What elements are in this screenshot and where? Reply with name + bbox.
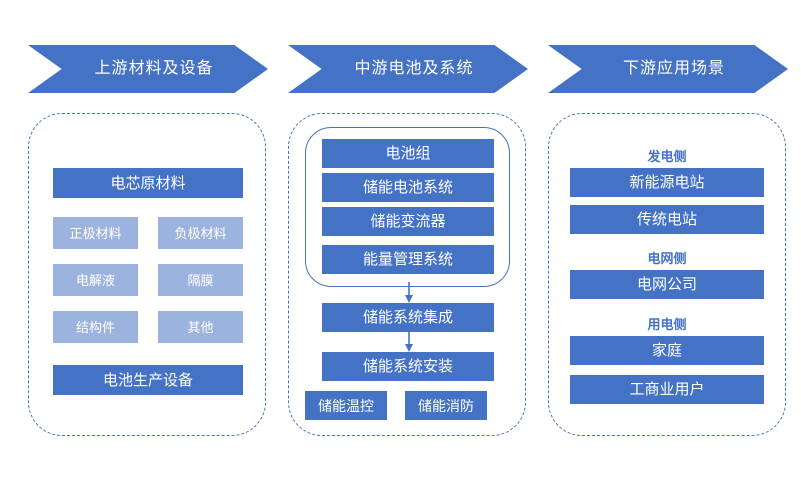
down-arrow-icon-1 bbox=[404, 282, 414, 304]
box-storage-battery-system[interactable]: 储能电池系统 bbox=[322, 173, 494, 202]
chevron-header-label: 上游材料及设备 bbox=[82, 61, 213, 77]
chevron-header-label: 中游电池及系统 bbox=[342, 61, 473, 77]
box-household[interactable]: 家庭 bbox=[570, 336, 764, 365]
section-label-generation: 发电侧 bbox=[548, 150, 786, 163]
chevron-header-downstream[interactable]: 下游应用场景 bbox=[548, 45, 788, 93]
box-anode-material[interactable]: 负极材料 bbox=[158, 217, 243, 249]
section-label-consumption: 用电侧 bbox=[548, 318, 786, 331]
box-fire-protection[interactable]: 储能消防 bbox=[405, 391, 487, 420]
diagram-canvas: 上游材料及设备 电芯原材料 正极材料 负极材料 电解液 隔膜 结构件 其他 电池… bbox=[0, 0, 801, 477]
box-electrolyte[interactable]: 电解液 bbox=[53, 264, 138, 296]
box-new-energy-plant[interactable]: 新能源电站 bbox=[570, 168, 764, 197]
box-battery-pack[interactable]: 电池组 bbox=[322, 139, 494, 168]
box-separator[interactable]: 隔膜 bbox=[158, 264, 243, 296]
box-energy-management-system[interactable]: 能量管理系统 bbox=[322, 245, 494, 274]
column-midstream: 中游电池及系统 电池组 储能电池系统 储能变流器 能量管理系统 储能系统集成 储… bbox=[288, 0, 528, 477]
box-raw-material[interactable]: 电芯原材料 bbox=[53, 168, 243, 198]
box-system-integration[interactable]: 储能系统集成 bbox=[322, 303, 494, 332]
box-commercial-industrial-user[interactable]: 工商业用户 bbox=[570, 375, 764, 404]
box-other-materials[interactable]: 其他 bbox=[158, 311, 243, 343]
box-battery-production-equipment[interactable]: 电池生产设备 bbox=[53, 365, 243, 395]
column-upstream: 上游材料及设备 电芯原材料 正极材料 负极材料 电解液 隔膜 结构件 其他 电池… bbox=[28, 0, 268, 477]
box-system-installation[interactable]: 储能系统安装 bbox=[322, 352, 494, 381]
chevron-header-label: 下游应用场景 bbox=[611, 61, 725, 77]
chevron-header-midstream[interactable]: 中游电池及系统 bbox=[288, 45, 528, 93]
box-thermal-management[interactable]: 储能温控 bbox=[305, 391, 387, 420]
box-traditional-plant[interactable]: 传统电站 bbox=[570, 205, 764, 234]
down-arrow-icon-2 bbox=[404, 332, 414, 353]
box-structural-parts[interactable]: 结构件 bbox=[53, 311, 138, 343]
chevron-header-upstream[interactable]: 上游材料及设备 bbox=[28, 45, 268, 93]
box-cathode-material[interactable]: 正极材料 bbox=[53, 217, 138, 249]
box-pcs-converter[interactable]: 储能变流器 bbox=[322, 207, 494, 236]
box-grid-company[interactable]: 电网公司 bbox=[570, 270, 764, 299]
column-downstream: 下游应用场景 发电侧 新能源电站 传统电站 电网侧 电网公司 用电侧 家庭 工商… bbox=[548, 0, 788, 477]
section-label-grid: 电网侧 bbox=[548, 252, 786, 265]
